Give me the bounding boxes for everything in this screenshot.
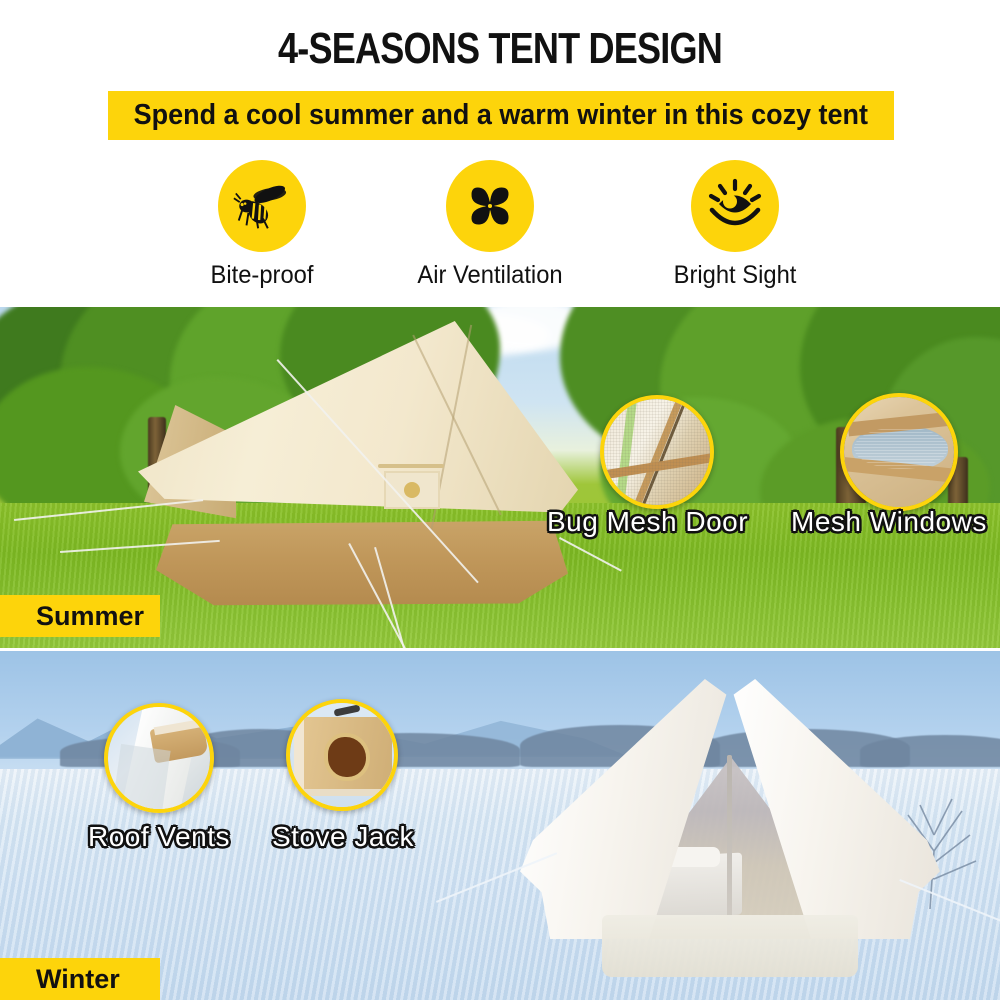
callout-stove-jack[interactable] xyxy=(286,699,398,811)
summer-photo: Bug Mesh Door Mesh Windows Summer xyxy=(0,307,1000,648)
eye-icon xyxy=(703,174,767,238)
callout-roof-vents[interactable] xyxy=(104,703,214,813)
tent-center-pole xyxy=(727,755,732,941)
feature-bite-proof: Bite-proof xyxy=(142,160,382,290)
bug-mesh-door-photo xyxy=(604,399,710,505)
callout-label-roof-vents: Roof Vents xyxy=(88,821,230,853)
feature-label: Bite-proof xyxy=(148,261,376,290)
season-label: Summer xyxy=(0,601,144,632)
callout-label-stove-jack: Stove Jack xyxy=(272,821,414,853)
eye-icon-badge xyxy=(691,160,779,252)
tent-window-bar xyxy=(378,464,444,468)
tent-ground-skirt xyxy=(156,519,568,607)
callout-label-bug-mesh-door: Bug Mesh Door xyxy=(547,506,748,538)
callout-label-mesh-windows: Mesh Windows xyxy=(791,506,987,538)
bee-icon xyxy=(231,175,293,237)
subtitle-text: Spend a cool summer and a warm winter in… xyxy=(134,99,868,132)
feature-row: Bite-proof Air Ventilation xyxy=(0,160,1000,305)
mesh-windows-photo xyxy=(844,397,954,507)
subtitle-banner: Spend a cool summer and a warm winter in… xyxy=(108,91,894,140)
page-title: 4-SEASONS TENT DESIGN xyxy=(90,24,910,74)
season-label: Winter xyxy=(0,964,120,995)
winter-bell-tent xyxy=(520,679,940,961)
fan-icon-badge xyxy=(446,160,534,252)
bee-icon-badge xyxy=(218,160,306,252)
feature-bright-sight: Bright Sight xyxy=(615,160,855,290)
roof-vents-photo xyxy=(108,707,210,809)
tent-entry-mat xyxy=(602,915,858,977)
season-badge-winter: Winter xyxy=(0,958,160,1000)
season-badge-summer: Summer xyxy=(0,595,160,637)
feature-label: Bright Sight xyxy=(621,261,849,290)
summer-bell-tent xyxy=(138,321,578,611)
feature-label: Air Ventilation xyxy=(376,261,604,290)
winter-photo: Roof Vents Stove Jack Winter xyxy=(0,651,1000,1000)
callout-mesh-windows[interactable] xyxy=(840,393,958,511)
callout-bug-mesh-door[interactable] xyxy=(600,395,714,509)
stove-jack-photo xyxy=(290,703,394,807)
fan-icon xyxy=(459,175,521,237)
infographic-page: 4-SEASONS TENT DESIGN Spend a cool summe… xyxy=(0,0,1000,1000)
feature-air-ventilation: Air Ventilation xyxy=(370,160,610,290)
